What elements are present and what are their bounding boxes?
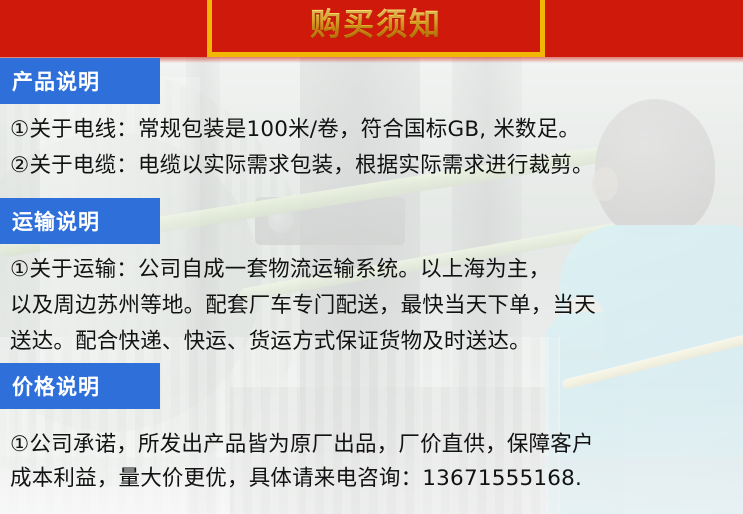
section-tag-label: 价格说明: [12, 371, 100, 401]
section-tag-label: 运输说明: [12, 206, 100, 236]
content-area: 产品说明 ①关于电线：常规包装是100米/卷，符合国标GB, 米数足。 ②关于电…: [0, 0, 743, 514]
section-tag-product: 产品说明: [0, 58, 160, 104]
section-tag-price: 价格说明: [0, 363, 160, 409]
section-body-product: ①关于电线：常规包装是100米/卷，符合国标GB, 米数足。 ②关于电缆：电缆以…: [10, 112, 736, 184]
section-body-shipping: ①关于运输：公司自成一套物流运输系统。以上海为主， 以及周边苏州等地。配套厂车专…: [10, 252, 736, 360]
purchase-notice-banner: 购买须知 产品说明 ①关于电线：常规包装是100米/卷，符合国标GB, 米数足。…: [0, 0, 743, 514]
section-body-price: ①公司承诺，所发出产品皆为原厂出品，厂价直供，保障客户 成本利益，量大价更优，具…: [10, 428, 736, 496]
section-tag-shipping: 运输说明: [0, 198, 160, 244]
section-tag-label: 产品说明: [12, 66, 100, 96]
